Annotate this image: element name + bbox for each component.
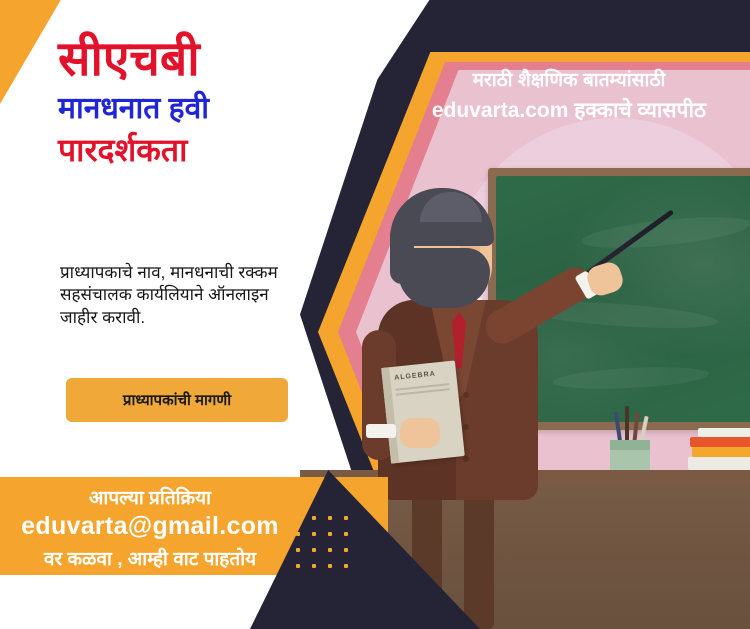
demand-cta-button[interactable]: प्राध्यापकांची मागणी: [66, 378, 288, 422]
algebra-book: ALGEBRA: [381, 360, 465, 463]
dot: [296, 532, 300, 536]
dot: [344, 564, 348, 568]
dot: [296, 548, 300, 552]
dot: [296, 564, 300, 568]
hand-left: [400, 418, 440, 448]
dot-grid-pattern: [296, 516, 360, 580]
dot: [328, 564, 332, 568]
headline-block: सीएचबी मानधनात हवी पारदर्शकता: [58, 36, 328, 166]
contact-line-1: आपल्या प्रतिक्रिया: [0, 484, 300, 510]
jacket-button: [463, 424, 469, 430]
cuff-left: [366, 424, 396, 438]
dot: [344, 532, 348, 536]
header-tagline: मराठी शैक्षणिक बातम्यांसाठी eduvarta.com…: [388, 66, 750, 124]
dot: [312, 532, 316, 536]
dot: [312, 548, 316, 552]
headline-line-1: सीएचबी: [58, 36, 328, 84]
jacket-button: [463, 456, 469, 462]
header-line-2: eduvarta.com हक्काचे व्यासपीठ: [388, 96, 750, 124]
subtext-paragraph: प्राध्यापकाचे नाव, मानधनाची रक्कम सहसंचा…: [60, 262, 310, 329]
algebra-book-title: ALGEBRA: [394, 369, 450, 382]
poster-root: ALGEBRA मराठी शैक्षणिक बातम्यांसाठी eduv…: [0, 0, 750, 629]
headline-line-3: पारदर्शकता: [58, 134, 328, 166]
contact-line-3: वर कळवा , आम्ही वाट पाहतोय: [0, 545, 300, 571]
dot: [344, 548, 348, 552]
dot: [296, 516, 300, 520]
header-line-1: मराठी शैक्षणिक बातम्यांसाठी: [388, 66, 750, 92]
dot: [328, 516, 332, 520]
dot: [328, 532, 332, 536]
jacket-button: [463, 392, 469, 398]
dot: [328, 548, 332, 552]
headline-line-2: मानधनात हवी: [58, 94, 328, 124]
dot: [312, 516, 316, 520]
dot: [312, 564, 316, 568]
contact-email[interactable]: eduvarta@gmail.com: [0, 512, 300, 541]
dot: [344, 516, 348, 520]
